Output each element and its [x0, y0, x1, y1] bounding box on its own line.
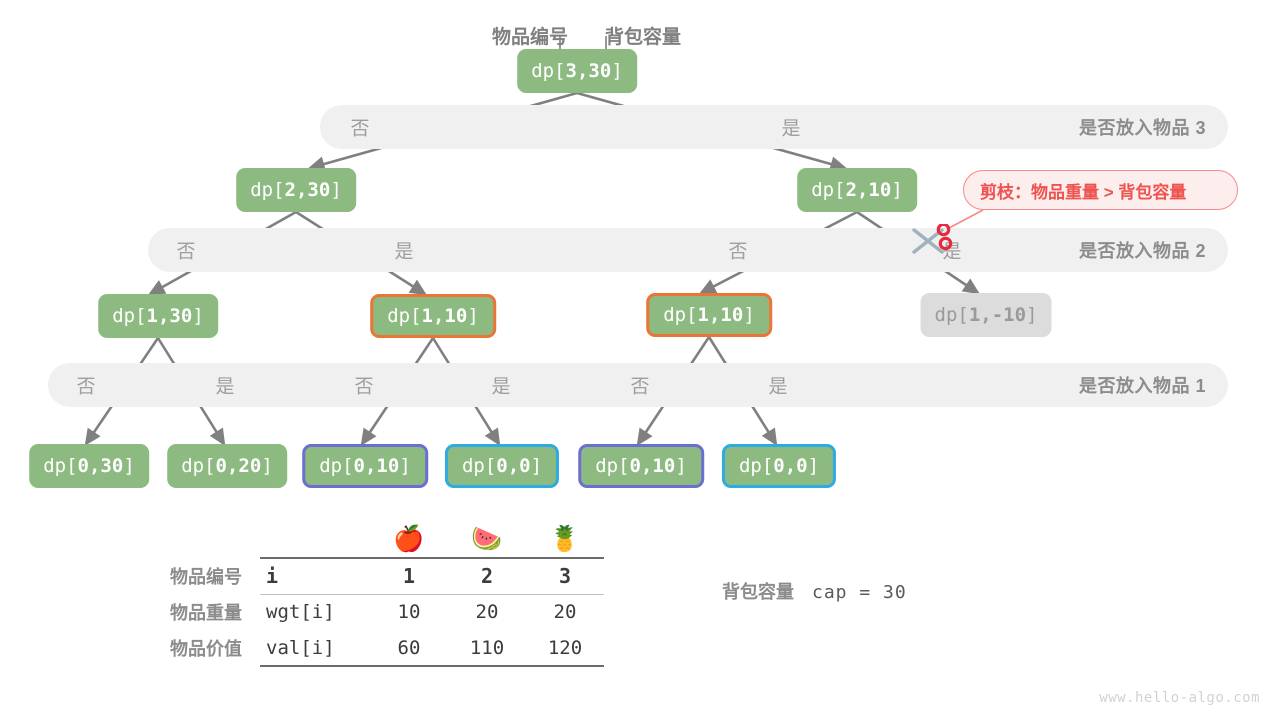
node-index: 1,10: [422, 305, 468, 327]
node-prefix: dp[: [319, 455, 353, 477]
branch-label-否: 否: [176, 237, 195, 264]
node-suffix: ]: [399, 455, 410, 477]
watermark: www.hello-algo.com: [1099, 690, 1260, 706]
tree-node-2_30[interactable]: dp[2,30]: [236, 168, 356, 212]
level-title: 是否放入物品 2: [1079, 237, 1206, 263]
apple-icon: 🍎: [370, 520, 448, 558]
tree-node-1_30[interactable]: dp[1,30]: [98, 294, 218, 338]
tree-node-0_10[interactable]: dp[0,10]: [302, 444, 428, 488]
row-header: 物品价值: [170, 630, 260, 666]
node-suffix: ]: [261, 455, 272, 477]
table-cell: 1: [370, 558, 448, 594]
scissors-icon: [908, 224, 954, 264]
top-label: 物品编号: [492, 22, 568, 49]
node-suffix: ]: [467, 305, 478, 327]
node-index: 0,10: [630, 455, 676, 477]
node-suffix: ]: [1026, 304, 1037, 326]
table-row: 物品价值val[i]60110120: [170, 630, 604, 666]
branch-label-是: 是: [768, 372, 787, 399]
node-suffix: ]: [531, 455, 542, 477]
table-cell: 120: [526, 630, 604, 666]
node-suffix: ]: [330, 179, 341, 201]
table-cell: 20: [448, 594, 526, 630]
table-bottom-rule: [170, 666, 604, 670]
bottom-rule-cell: [448, 666, 526, 670]
node-index: 0,0: [773, 455, 807, 477]
node-prefix: dp[: [663, 304, 697, 326]
node-prefix: dp[: [387, 305, 421, 327]
node-index: 0,10: [354, 455, 400, 477]
table-cell: 110: [448, 630, 526, 666]
node-index: 0,0: [496, 455, 530, 477]
tree-node-0_30[interactable]: dp[0,30]: [29, 444, 149, 488]
diagram-canvas: 否是是否放入物品 3否是否是是否放入物品 2否是否是否是是否放入物品 1 dp[…: [0, 0, 1280, 720]
branch-label-否: 否: [350, 114, 369, 141]
tree-node-1_10[interactable]: dp[1,10]: [646, 293, 772, 337]
node-prefix: dp[: [595, 455, 629, 477]
level-title: 是否放入物品 3: [1079, 114, 1206, 140]
capacity-note-value: cap = 30: [812, 582, 907, 603]
level-band-3: 否是是否放入物品 3: [320, 105, 1228, 149]
node-suffix: ]: [891, 179, 902, 201]
node-index: 2,10: [846, 179, 892, 201]
node-prefix: dp[: [112, 305, 146, 327]
table-cell: 10: [370, 594, 448, 630]
tree-node-0_0[interactable]: dp[0,0]: [722, 444, 836, 488]
tree-node-1_10[interactable]: dp[1,10]: [370, 294, 496, 338]
bottom-rule-cell: [260, 666, 370, 670]
level-band-1: 否是否是否是是否放入物品 1: [48, 363, 1228, 407]
node-prefix: dp[: [811, 179, 845, 201]
tree-node-3_30[interactable]: dp[3,30]: [517, 49, 637, 93]
branch-label-否: 否: [354, 372, 373, 399]
pruning-annotation-text: 剪枝：物品重量 > 背包容量: [980, 178, 1186, 203]
tree-node-2_10[interactable]: dp[2,10]: [797, 168, 917, 212]
table-cell: 60: [370, 630, 448, 666]
node-prefix: dp[: [43, 455, 77, 477]
bottom-rule-cell: [370, 666, 448, 670]
fruit-icon-row: 🍎🍉🍍: [170, 520, 604, 558]
branch-label-是: 是: [215, 372, 234, 399]
pineapple-icon: 🍍: [526, 520, 604, 558]
table-row: 物品重量wgt[i]102020: [170, 594, 604, 630]
fruit-row-spacer: [170, 520, 260, 558]
branch-label-是: 是: [781, 114, 800, 141]
node-prefix: dp[: [531, 60, 565, 82]
bottom-rule-cell: [526, 666, 604, 670]
bottom-rule-spacer: [170, 666, 260, 670]
capacity-note: 背包容量cap = 30: [722, 578, 907, 604]
row-header: 物品重量: [170, 594, 260, 630]
node-index: 1,-10: [969, 304, 1026, 326]
node-suffix: ]: [808, 455, 819, 477]
node-prefix: dp[: [250, 179, 284, 201]
node-index: 3,30: [566, 60, 612, 82]
row-key: wgt[i]: [260, 594, 370, 630]
level-title: 是否放入物品 1: [1079, 372, 1206, 398]
node-suffix: ]: [675, 455, 686, 477]
tree-node-0_10[interactable]: dp[0,10]: [578, 444, 704, 488]
fruit-row-spacer2: [260, 520, 370, 558]
table-cell: 2: [448, 558, 526, 594]
row-header: 物品编号: [170, 558, 260, 594]
table-cell: 20: [526, 594, 604, 630]
spec-table: 🍎🍉🍍物品编号i123物品重量wgt[i]102020物品价值val[i]601…: [170, 520, 604, 670]
row-key: i: [260, 558, 370, 594]
top-label: 背包容量: [605, 22, 681, 49]
node-prefix: dp[: [462, 455, 496, 477]
table-cell: 3: [526, 558, 604, 594]
level-band-2: 否是否是是否放入物品 2: [148, 228, 1228, 272]
node-suffix: ]: [743, 304, 754, 326]
node-suffix: ]: [192, 305, 203, 327]
item-spec-table: 🍎🍉🍍物品编号i123物品重量wgt[i]102020物品价值val[i]601…: [170, 520, 604, 670]
node-index: 0,20: [216, 455, 262, 477]
branch-label-是: 是: [491, 372, 510, 399]
branch-label-否: 否: [76, 372, 95, 399]
node-index: 1,10: [698, 304, 744, 326]
node-prefix: dp[: [181, 455, 215, 477]
node-index: 2,30: [285, 179, 331, 201]
row-key: val[i]: [260, 630, 370, 666]
branch-label-否: 否: [728, 237, 747, 264]
pruning-annotation: 剪枝：物品重量 > 背包容量: [963, 170, 1238, 210]
tree-node-0_20[interactable]: dp[0,20]: [167, 444, 287, 488]
node-prefix: dp[: [739, 455, 773, 477]
node-prefix: dp[: [935, 304, 969, 326]
node-index: 0,30: [78, 455, 124, 477]
branch-label-否: 否: [630, 372, 649, 399]
node-index: 1,30: [147, 305, 193, 327]
watermelon-icon: 🍉: [448, 520, 526, 558]
capacity-note-label: 背包容量: [722, 582, 794, 602]
table-row: 物品编号i123: [170, 558, 604, 594]
tree-node-0_0[interactable]: dp[0,0]: [445, 444, 559, 488]
tree-node-1__10[interactable]: dp[1,-10]: [921, 293, 1052, 337]
node-suffix: ]: [123, 455, 134, 477]
node-suffix: ]: [611, 60, 622, 82]
branch-label-是: 是: [394, 237, 413, 264]
